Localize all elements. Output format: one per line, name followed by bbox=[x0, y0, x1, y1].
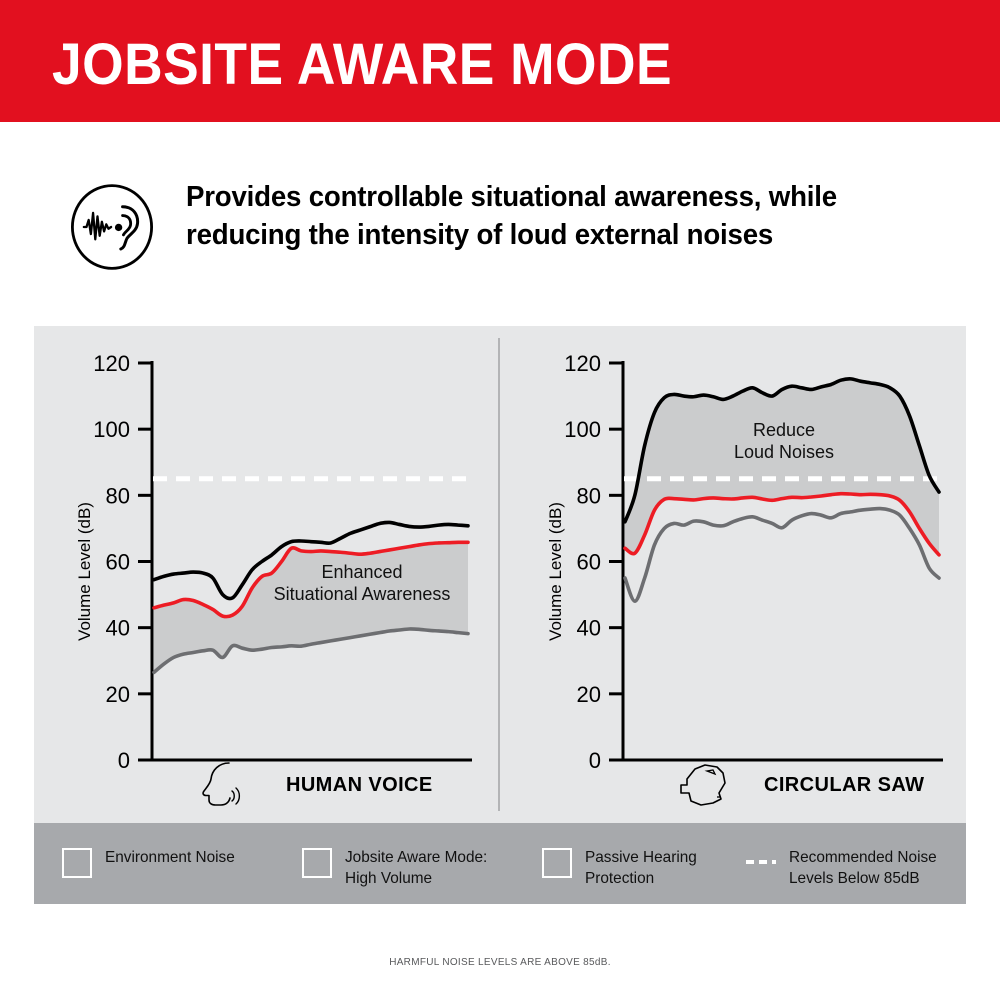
legend-swatch-jobsite-aware-mode bbox=[302, 848, 332, 878]
y-tick-label-80: 80 bbox=[106, 483, 130, 508]
speaking-face-icon bbox=[203, 763, 239, 805]
x-axis-category-label: HUMAN VOICE bbox=[286, 774, 433, 796]
y-axis-title: Volume Level (dB) bbox=[546, 502, 565, 641]
legend-item-2: Passive Hearing Protection bbox=[542, 847, 702, 889]
header-banner: JOBSITE AWARE MODE bbox=[0, 0, 1000, 122]
y-tick-label-120: 120 bbox=[564, 351, 601, 376]
y-tick-label-80: 80 bbox=[577, 483, 601, 508]
y-tick-label-100: 100 bbox=[93, 417, 130, 442]
chart-circular-saw: 020406080100120Volume Level (dB)ReduceLo… bbox=[546, 351, 943, 805]
intro-text: Provides controllable situational awaren… bbox=[186, 178, 956, 254]
legend-label-1: Jobsite Aware Mode: High Volume bbox=[345, 847, 487, 889]
legend-label-0: Environment Noise bbox=[105, 847, 235, 868]
page-title: JOBSITE AWARE MODE bbox=[52, 36, 672, 94]
sound-wave-2 bbox=[236, 788, 239, 804]
y-tick-label-120: 120 bbox=[93, 351, 130, 376]
saw-body bbox=[681, 765, 725, 805]
y-tick-label-40: 40 bbox=[577, 616, 601, 641]
legend-item-3: Recommended Noise Levels Below 85dB bbox=[746, 847, 943, 889]
ear-soundwave-icon bbox=[68, 183, 156, 271]
y-tick-label-60: 60 bbox=[106, 550, 130, 575]
y-tick-label-20: 20 bbox=[577, 682, 601, 707]
chart-annotation-line-0: Enhanced bbox=[321, 562, 402, 582]
legend-swatch-recommended-noise-levels bbox=[746, 848, 776, 874]
y-tick-label-60: 60 bbox=[577, 550, 601, 575]
sound-wave-1 bbox=[232, 791, 234, 801]
legend-label-2: Passive Hearing Protection bbox=[585, 847, 697, 889]
y-tick-label-0: 0 bbox=[589, 748, 601, 773]
intro-section: Provides controllable situational awaren… bbox=[0, 150, 1000, 290]
face-profile bbox=[203, 763, 230, 805]
footnote: HARMFUL NOISE LEVELS ARE ABOVE 85dB. bbox=[0, 957, 1000, 968]
chart-annotation-line-1: Loud Noises bbox=[734, 442, 834, 462]
chart-human-voice: 020406080100120Volume Level (dB)Enhanced… bbox=[75, 351, 472, 805]
y-axis-title: Volume Level (dB) bbox=[75, 502, 94, 641]
chart-annotation-line-1: Situational Awareness bbox=[274, 584, 451, 604]
intro-line-2: reducing the intensity of loud external … bbox=[186, 216, 933, 254]
noise-comparison-charts: 020406080100120Volume Level (dB)Enhanced… bbox=[34, 326, 966, 823]
intro-line-1: Provides controllable situational awaren… bbox=[186, 178, 933, 216]
y-tick-label-20: 20 bbox=[106, 682, 130, 707]
circular-saw-icon bbox=[681, 765, 725, 805]
legend-label-3: Recommended Noise Levels Below 85dB bbox=[789, 847, 937, 889]
chart-panel: 020406080100120Volume Level (dB)Enhanced… bbox=[34, 326, 966, 823]
legend-swatch-environment-noise bbox=[62, 848, 92, 878]
x-axis-category-label: CIRCULAR SAW bbox=[764, 774, 924, 796]
y-tick-label-0: 0 bbox=[118, 748, 130, 773]
legend-swatch-passive-hearing-protection bbox=[542, 848, 572, 878]
y-tick-label-100: 100 bbox=[564, 417, 601, 442]
saw-blade-detail bbox=[707, 770, 715, 774]
y-tick-label-40: 40 bbox=[106, 616, 130, 641]
series-line-passive-hearing-protection bbox=[625, 509, 939, 602]
chart-legend: Environment Noise Jobsite Aware Mode: Hi… bbox=[34, 823, 966, 904]
chart-annotation-line-0: Reduce bbox=[753, 420, 815, 440]
legend-item-0: Environment Noise bbox=[62, 847, 240, 878]
legend-item-1: Jobsite Aware Mode: High Volume bbox=[302, 847, 493, 889]
